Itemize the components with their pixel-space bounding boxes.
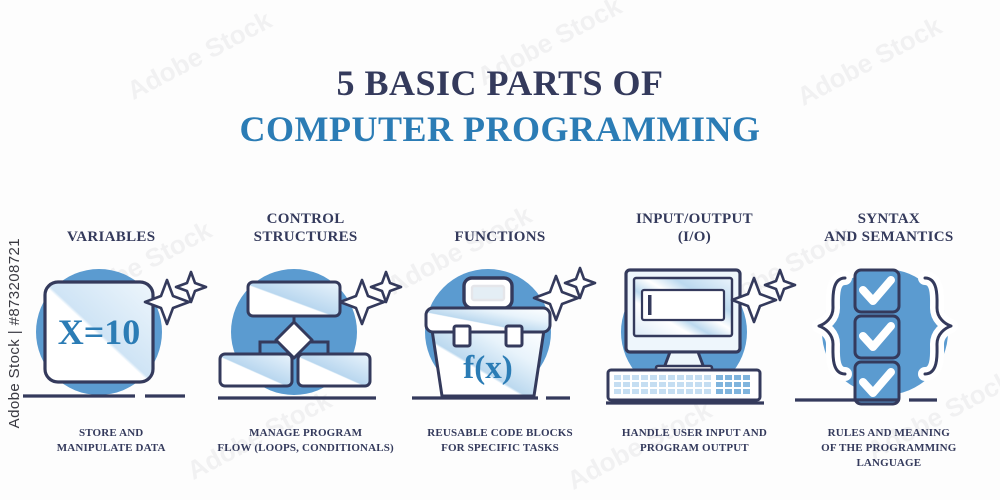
column-control-structures: CONTROL STRUCTURES (208, 198, 402, 498)
caption-control-structures: MANAGE PROGRAM FLOW (LOOPS, CONDITIONALS… (217, 426, 393, 456)
heading-line: SYNTAX (858, 210, 920, 228)
toolbox-latch-right (506, 326, 522, 346)
caption-line: FLOW (LOOPS, CONDITIONALS) (217, 441, 393, 456)
icon-value-label: f(x) (463, 350, 512, 386)
heading-control-structures: CONTROL STRUCTURES (254, 198, 358, 246)
heading-input-output: INPUT/OUTPUT (I/O) (636, 198, 753, 246)
text-field (642, 290, 724, 320)
column-syntax-and-semantics: SYNTAX AND SEMANTICS (792, 198, 986, 498)
heading-functions: FUNCTIONS (454, 198, 545, 246)
heading-line: AND SEMANTICS (824, 228, 953, 246)
title-line-2: COMPUTER PROGRAMMING (0, 108, 1000, 150)
toolbox-icon: f(x) (410, 256, 590, 414)
caption-line: MANIPULATE DATA (57, 441, 166, 456)
flow-node-top (248, 282, 340, 316)
caption-line: RULES AND MEANING (821, 426, 956, 441)
caption-line: HANDLE USER INPUT AND (622, 426, 767, 441)
heading-line: CONTROL (267, 210, 345, 228)
variable-box-icon: X=10 (21, 256, 201, 414)
braces-checklist-icon (799, 256, 979, 414)
toolbox-latch-left (454, 326, 470, 346)
heading-line: STRUCTURES (254, 228, 358, 246)
caption-variables: STORE AND MANIPULATE DATA (57, 426, 166, 456)
heading-line: INPUT/OUTPUT (636, 210, 753, 228)
infographic-canvas: Adobe Stock Adobe Stock Adobe Stock Adob… (0, 0, 1000, 500)
flowchart-icon (216, 256, 396, 414)
text-cursor-icon (648, 295, 652, 315)
page-title: 5 BASIC PARTS OF COMPUTER PROGRAMMING (0, 62, 1000, 151)
monitor-keyboard-icon (604, 256, 784, 414)
toolbox-lid (426, 308, 550, 332)
column-functions: FUNCTIONS (403, 198, 597, 498)
caption-functions: REUSABLE CODE BLOCKS FOR SPECIFIC TASKS (427, 426, 572, 456)
title-line-1: 5 BASIC PARTS OF (0, 62, 1000, 104)
heading-syntax-and-semantics: SYNTAX AND SEMANTICS (824, 198, 953, 246)
icon-value-label: X=10 (58, 312, 141, 352)
caption-syntax-and-semantics: RULES AND MEANING OF THE PROGRAMMING LAN… (821, 426, 956, 471)
column-variables: VARIABLES X=10 (14, 198, 208, 498)
heading-variables: VARIABLES (67, 198, 155, 246)
column-input-output: INPUT/OUTPUT (I/O) (597, 198, 791, 498)
flow-node-right (298, 354, 370, 386)
flow-node-left (220, 354, 292, 386)
heading-line: VARIABLES (67, 228, 155, 246)
parts-columns: VARIABLES X=10 (0, 198, 1000, 498)
keyboard-keys (614, 375, 711, 394)
caption-line: FOR SPECIFIC TASKS (427, 441, 572, 456)
caption-line: PROGRAM OUTPUT (622, 441, 767, 456)
caption-line: REUSABLE CODE BLOCKS (427, 426, 572, 441)
caption-line: STORE AND (57, 426, 166, 441)
caption-line: LANGUAGE (821, 456, 956, 471)
caption-line: MANAGE PROGRAM (217, 426, 393, 441)
caption-input-output: HANDLE USER INPUT AND PROGRAM OUTPUT (622, 426, 767, 456)
heading-line: (I/O) (678, 228, 711, 246)
caption-line: OF THE PROGRAMMING (821, 441, 956, 456)
heading-line: FUNCTIONS (454, 228, 545, 246)
